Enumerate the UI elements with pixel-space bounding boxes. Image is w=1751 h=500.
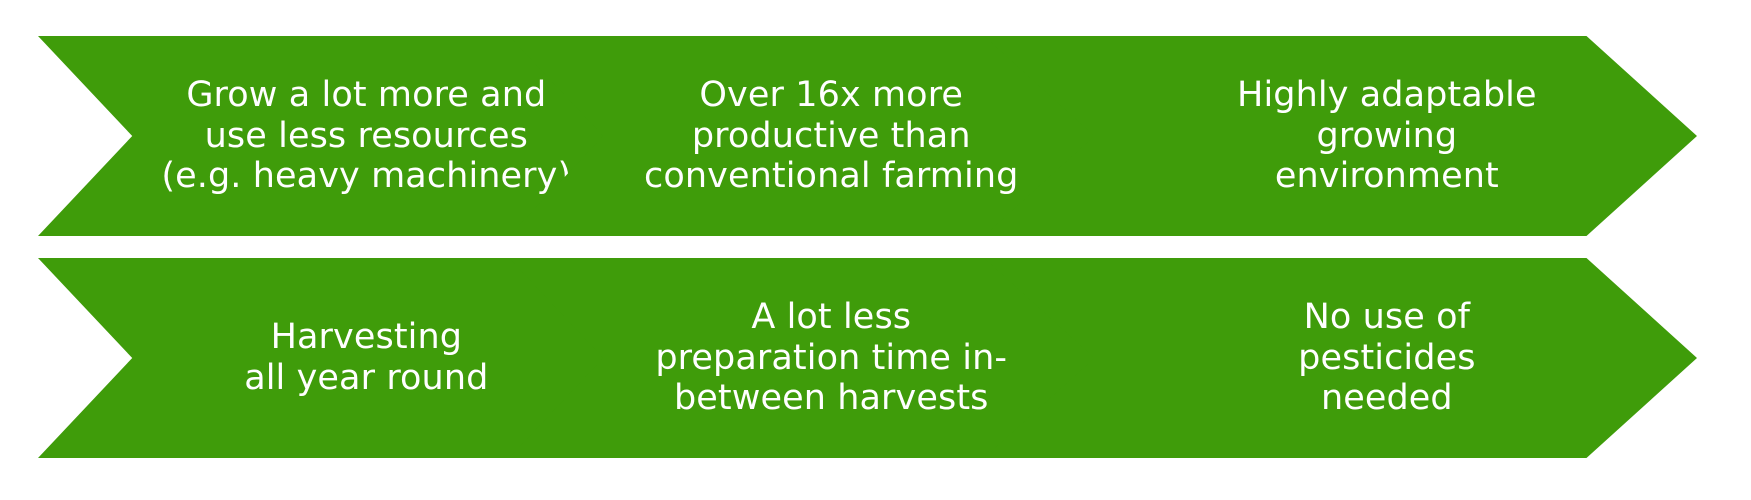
chevron-process-diagram: Grow a lot more and use less resources (…	[0, 0, 1751, 500]
chevron-row-top: Grow a lot more and use less resources (…	[0, 36, 1751, 236]
chevron-benefit-1-label: Grow a lot more and use less resources (…	[38, 75, 646, 197]
chevron-row-bottom: Harvesting all year round A lot less pre…	[0, 258, 1751, 458]
chevron-benefit-4-label: Harvesting all year round	[38, 317, 646, 398]
